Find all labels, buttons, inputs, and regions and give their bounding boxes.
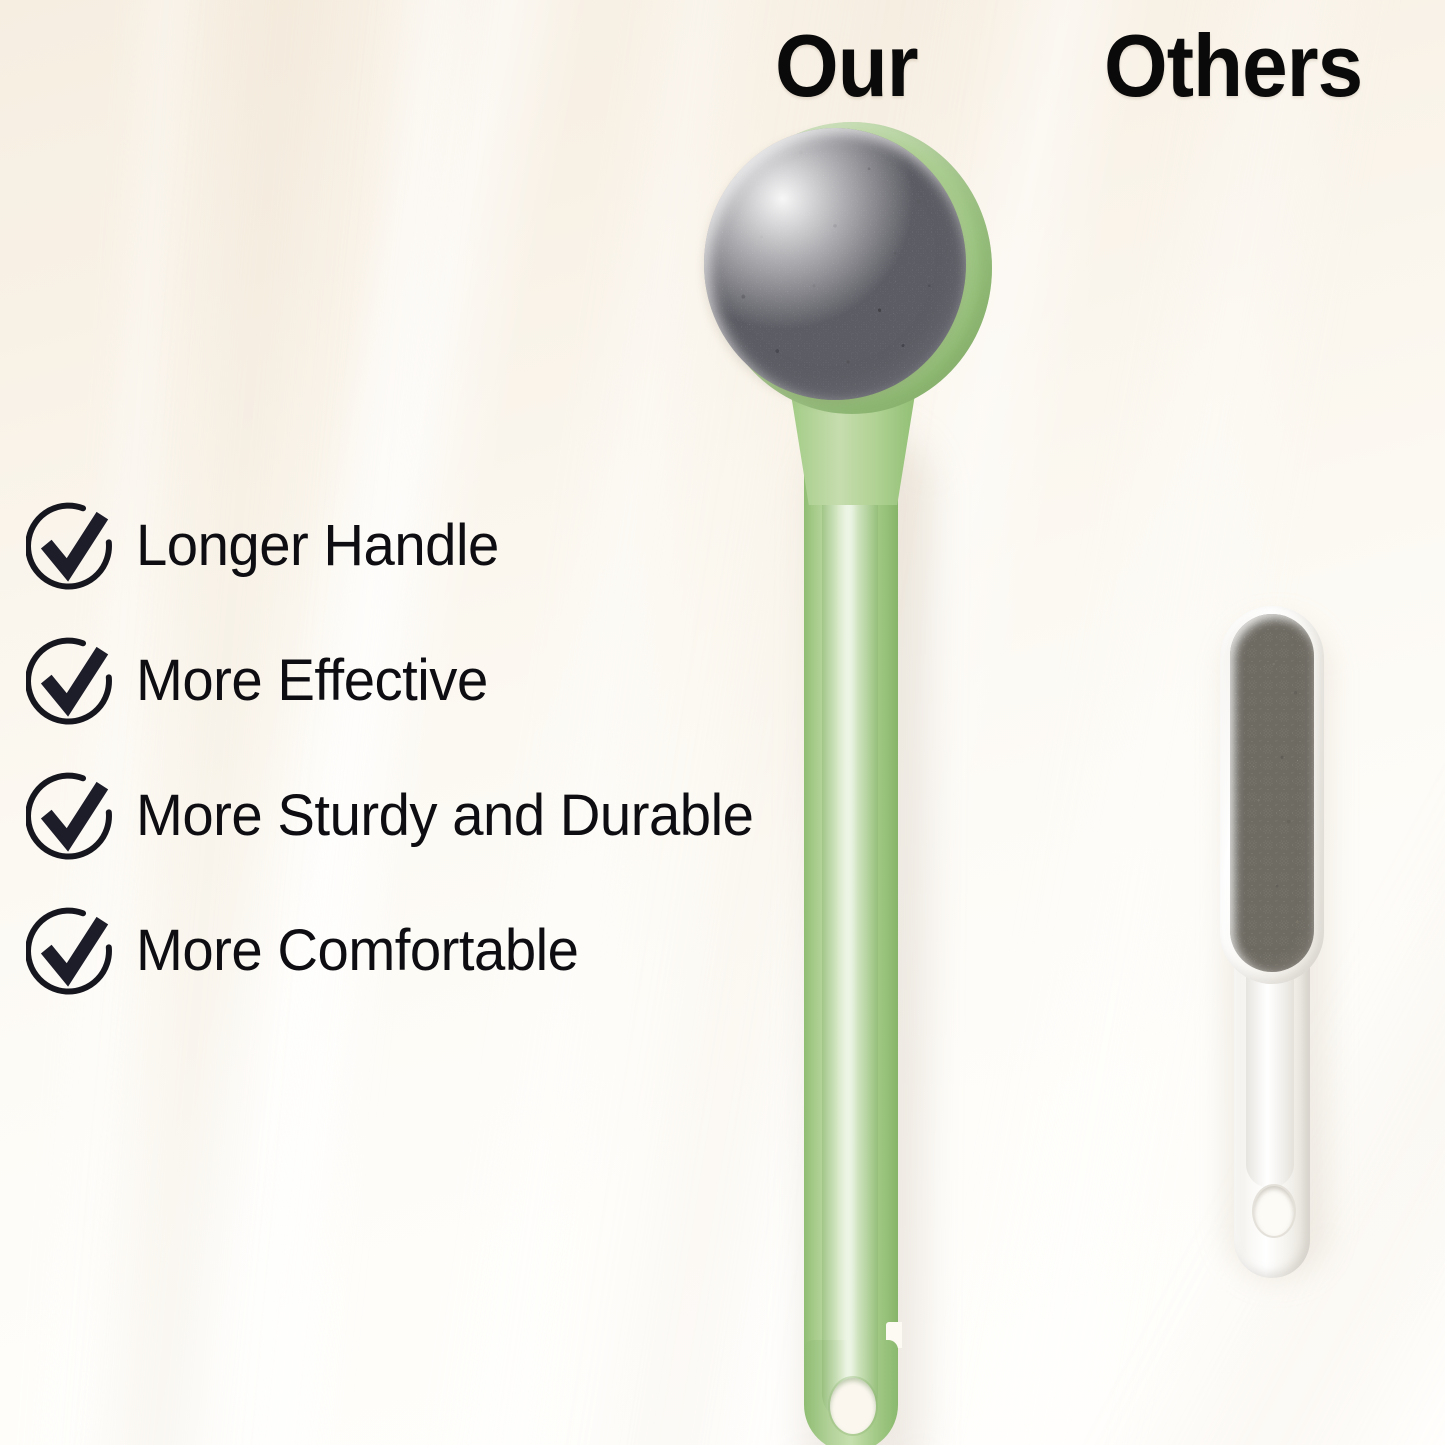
- our-hanging-hole: [830, 1378, 876, 1434]
- others-pumice-pad: [1230, 614, 1314, 972]
- check-circle-icon: [26, 770, 118, 862]
- feature-item: More Sturdy and Durable: [26, 748, 786, 883]
- feature-label: More Effective: [136, 652, 488, 710]
- our-column-heading: Our: [775, 22, 918, 110]
- our-pumice-stone: [704, 128, 966, 400]
- feature-label: More Comfortable: [136, 922, 578, 980]
- feature-item: Longer Handle: [26, 478, 786, 613]
- feature-label: Longer Handle: [136, 517, 499, 575]
- check-circle-icon: [26, 500, 118, 592]
- feature-item: More Comfortable: [26, 883, 786, 1018]
- our-handle-highlight: [840, 450, 856, 1430]
- feature-benefit-list: Longer Handle More Effective More Sturdy…: [26, 478, 786, 1018]
- others-product-image: [1200, 590, 1380, 1290]
- feature-label: More Sturdy and Durable: [136, 787, 753, 845]
- check-circle-icon: [26, 905, 118, 997]
- check-circle-icon: [26, 635, 118, 727]
- others-column-heading: Others: [1104, 22, 1362, 110]
- feature-item: More Effective: [26, 613, 786, 748]
- others-hanging-hole: [1254, 1186, 1294, 1236]
- our-product-image: [690, 110, 1030, 1440]
- product-comparison-image: Our Others Longer Handle More Effective: [0, 0, 1445, 1445]
